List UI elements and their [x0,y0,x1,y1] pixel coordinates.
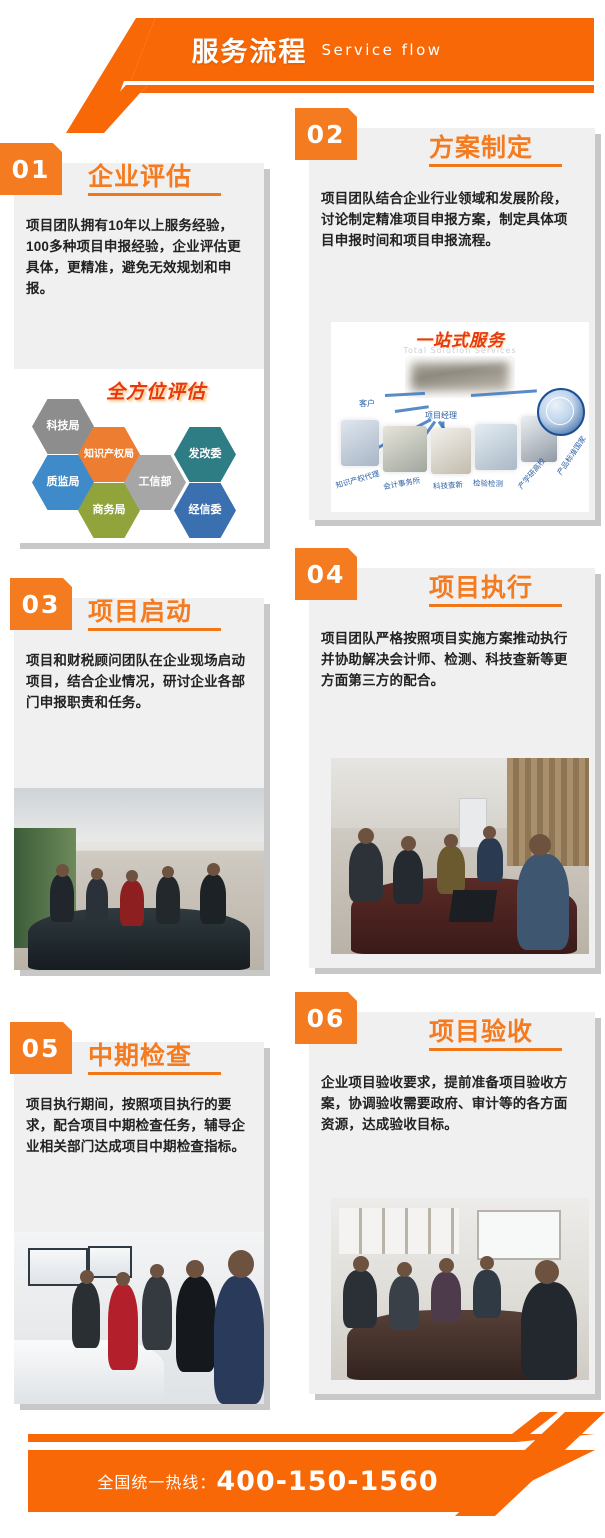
hex-node-fgw: 发改委 [174,427,236,482]
title-underline [88,1072,221,1075]
photo-person-head [162,866,174,878]
midterm-inspection-photo [14,1232,264,1404]
hexagon-assessment-graphic: 全方位评估 科技局 知识产权局 质监局 商务局 工信部 发改委 经信委 [14,369,264,543]
diagram-thumb-test [475,424,517,470]
diagram-arrow [395,405,429,413]
step-number-badge: 01 [0,143,62,195]
diagram-thumb-account [383,426,427,472]
photo-person-head [401,836,416,851]
photo-person-head [397,1262,412,1277]
photo-person-head [91,868,103,880]
step-title: 项目验收 [429,1012,533,1048]
hex-node-label: 科技局 [47,420,80,433]
photo-person-head [444,834,458,848]
photo-person-head [480,1256,494,1270]
photo-person-head [207,863,220,876]
photo-person-head [439,1258,454,1273]
step-description: 企业项目验收要求，提前准备项目验收方案，协调验收需要政府、审计等的各方面资源，达… [321,1072,569,1135]
step-card-05: 05 中期检查 项目执行期间，按照项目执行的要求，配合项目中期检查任务，辅导企业… [0,1022,278,1412]
photo-person [86,878,108,922]
photo-person [477,838,503,882]
photo-person-head [116,1272,130,1286]
kickoff-meeting-photo [14,788,264,970]
execution-meeting-photo [331,758,589,954]
footer-hotline-number: 400-150-1560 [216,1466,438,1497]
photo-person [176,1276,216,1372]
step-card-01: 01 企业评估 项目团队拥有10年以上服务经验，100多种项目申报经验，企业评估… [0,143,278,553]
step-description: 项目团队严格按照项目实施方案推动执行并协助解决会计师、检测、科技查新等更方面第三… [321,628,569,691]
photo-person-head [529,834,551,856]
hex-node-label: 经信委 [189,504,222,517]
footer-hotline-label: 全国统一热线： [97,1469,216,1493]
photo-counter [14,1340,164,1404]
step-number-badge: 03 [10,578,72,630]
step-card-04: 04 项目执行 项目团队严格按照项目实施方案推动执行并协助解决会计师、检测、科技… [295,548,595,972]
photo-person-head [56,864,69,877]
photo-person [142,1276,172,1350]
photo-person [50,874,74,922]
title-underline [429,164,562,167]
diagram-footer-label: 科技查新 [433,479,464,492]
step-description: 项目团队结合企业行业领域和发展阶段，讨论制定精准项目申报方案，制定具体项目申报时… [321,188,569,251]
photo-person [343,1270,377,1328]
step-card-02: 02 方案制定 项目团队结合企业行业领域和发展阶段，讨论制定精准项目申报方案，制… [295,108,595,520]
photo-laptop [449,890,497,922]
step-title: 方案制定 [429,128,533,164]
page-title: 服务流程 Service flow [0,18,594,81]
step-description: 项目团队拥有10年以上服务经验，100多种项目申报经验，企业评估更具体，更精准，… [26,215,252,299]
photo-person [120,880,144,926]
diagram-node-label-customer: 客户 [359,398,375,409]
photo-person [393,850,423,904]
acceptance-meeting-photo [331,1198,589,1380]
hex-node-label: 商务局 [93,504,126,517]
step-description: 项目和财税顾问团队在企业现场启动项目，结合企业情况，研讨企业各部门申报职责和任务… [26,650,252,713]
page-title-cn: 服务流程 [191,30,307,69]
hex-node-label: 质监局 [47,476,80,489]
diagram-thumb-ip [341,420,379,466]
hex-node-label: 发改委 [189,448,222,461]
step-card-03: 03 项目启动 项目和财税顾问团队在企业现场启动项目，结合企业情况，研讨企业各部… [0,578,278,978]
step-number-badge: 06 [295,992,357,1044]
photo-person [108,1284,138,1370]
step-title: 企业评估 [88,157,192,193]
photo-person [156,876,180,924]
photo-whiteboard [477,1210,561,1260]
photo-person [437,846,465,894]
photo-person-head [228,1250,254,1278]
step-title: 项目启动 [88,592,192,628]
hex-node-label: 知识产权局 [84,448,134,461]
photo-person-head [358,828,374,844]
photo-person [389,1276,419,1330]
photo-person [349,842,383,902]
page-title-en: Service flow [321,41,442,59]
step-number-badge: 02 [295,108,357,160]
page-footer: 全国统一热线： 400-150-1560 [0,1412,605,1538]
photo-person [200,874,226,924]
footer-stripe-thin [28,1434,595,1442]
photo-frames-wall [339,1208,459,1254]
title-underline [88,193,221,196]
diagram-footer-label: 会计事务所 [382,475,421,492]
footer-hotline: 全国统一热线： 400-150-1560 [28,1450,508,1512]
diagram-subtitle: Total Solution Services [403,346,516,355]
photo-person [517,854,569,950]
step-number-badge: 04 [295,548,357,600]
title-underline [88,628,221,631]
hex-node-jxw: 经信委 [174,483,236,538]
diagram-footer-label: 产品标准国家 [554,434,588,477]
hex-graphic-title: 全方位评估 [106,377,206,404]
photo-person-head [150,1264,164,1278]
diagram-footer-label: 知识产权代理 [334,468,380,491]
page-header: 服务流程 Service flow [0,0,605,100]
step-title: 项目执行 [429,568,533,604]
title-underline [429,604,562,607]
diagram-iso-seal-icon [537,388,585,436]
step-card-06: 06 项目验收 企业项目验收要求，提前准备项目验收方案，协调验收需要政府、审计等… [295,992,595,1398]
title-underline [429,1048,562,1051]
photo-person-head [535,1260,559,1284]
photo-person [431,1272,461,1322]
photo-person-head [353,1256,369,1272]
step-number-badge: 05 [10,1022,72,1074]
photo-person-head [80,1270,94,1284]
photo-person [521,1282,577,1380]
photo-person-head [126,870,138,882]
step-description: 项目执行期间，按照项目执行的要求，配合项目中期检查任务，辅导企业相关部门达成项目… [26,1094,252,1157]
photo-person [72,1282,100,1348]
header-orange-stripe [0,85,594,93]
one-stop-service-diagram: 一站式服务 Total Solution Services 客户 项目经理 知识… [331,322,589,512]
step-title: 中期检查 [88,1036,192,1072]
diagram-footer-label: 检验检测 [473,477,503,489]
diagram-thumb-search [431,428,471,474]
service-flow-infographic: 服务流程 Service flow 01 企业评估 项目团队拥有10年以上服务经… [0,0,605,1538]
hex-node-label: 工信部 [139,476,172,489]
photo-person [473,1270,501,1318]
photo-monitor [28,1248,88,1286]
photo-person [214,1276,264,1404]
photo-person-head [186,1260,204,1278]
photo-person-head [483,826,496,839]
